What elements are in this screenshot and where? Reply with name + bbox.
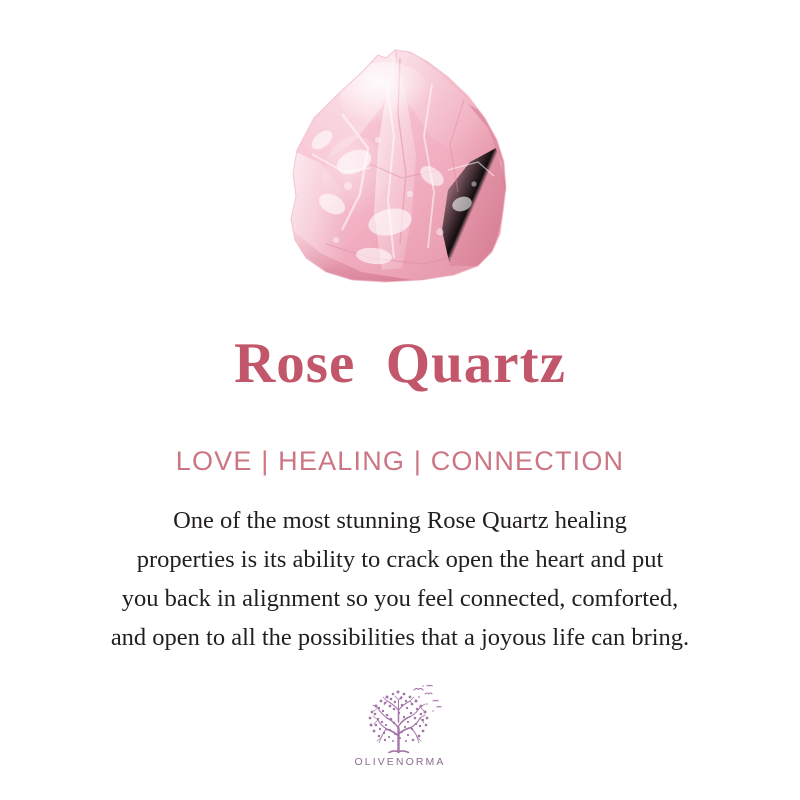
product-info-card: Rose Quartz LOVE | HEALING | CONNECTION … bbox=[0, 0, 800, 800]
keywords-subtitle: LOVE | HEALING | CONNECTION bbox=[0, 444, 800, 478]
description-line: One of the most stunning Rose Quartz hea… bbox=[40, 501, 760, 540]
description-line: you back in alignment so you feel connec… bbox=[40, 579, 760, 618]
rose-quartz-crystal-photo bbox=[282, 44, 518, 284]
page-title: Rose Quartz bbox=[0, 332, 800, 396]
description-line: properties is its ability to crack open … bbox=[40, 540, 760, 579]
description-line: and open to all the possibilities that a… bbox=[40, 618, 760, 657]
tree-of-life-with-birds-icon bbox=[357, 684, 443, 754]
brand-wordmark: OLIVENORMA bbox=[335, 756, 465, 768]
product-description: One of the most stunning Rose Quartz hea… bbox=[40, 501, 760, 657]
brand-logo: OLIVENORMA bbox=[335, 684, 465, 784]
product-image-figure bbox=[0, 0, 800, 300]
